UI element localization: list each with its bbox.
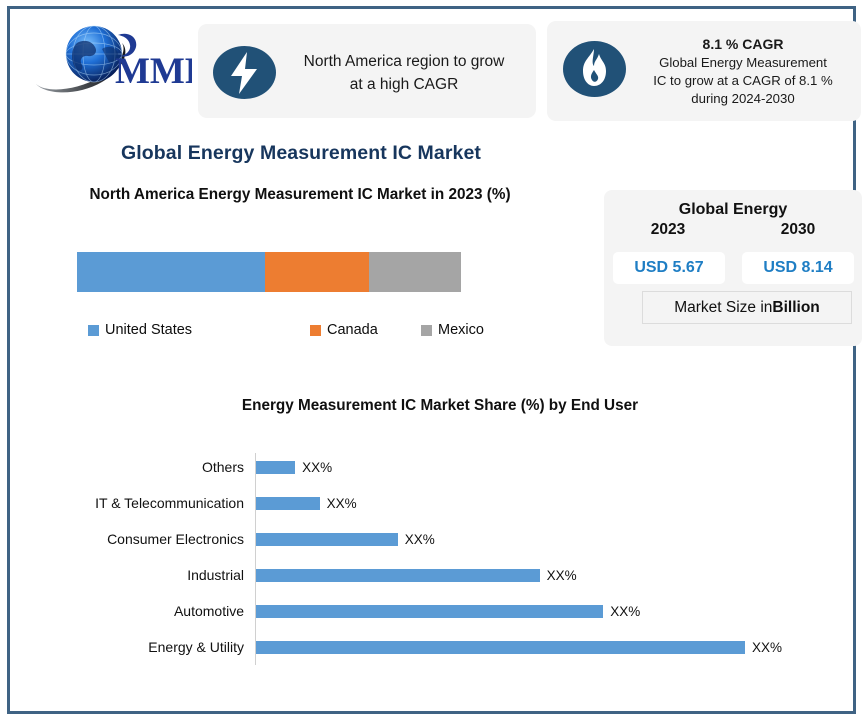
- highlight-line-2: at a high CAGR: [284, 73, 524, 96]
- cagr-line-1: Global Energy Measurement: [631, 54, 855, 72]
- market-size-year-2030: 2030: [748, 221, 848, 239]
- highlight-line-1: North America region to grow: [284, 50, 524, 73]
- globe-swoosh-icon: MMR: [32, 21, 192, 99]
- infographic-frame: MMR North America region to grow at a hi…: [7, 6, 856, 714]
- market-size-unit-prefix: Market Size in: [674, 299, 772, 317]
- mmr-logo: MMR: [32, 21, 192, 99]
- highlight-card: North America region to grow at a high C…: [198, 24, 536, 118]
- end-user-value-label: XX%: [752, 629, 782, 665]
- page-title: Global Energy Measurement IC Market: [10, 142, 592, 165]
- legend-label: Canada: [327, 322, 378, 338]
- svg-text:MMR: MMR: [115, 51, 192, 92]
- cagr-line-3: during 2024-2030: [631, 90, 855, 108]
- na-stacked-bar: [77, 252, 461, 292]
- end-user-value-label: XX%: [610, 593, 640, 629]
- end-user-category-label: IT & Telecommunication: [10, 485, 244, 521]
- end-user-bar-row: Consumer ElectronicsXX%: [10, 521, 863, 557]
- header: MMR North America region to grow at a hi…: [10, 9, 853, 122]
- market-size-year-2023: 2023: [618, 221, 718, 239]
- end-user-bar-row: Energy & UtilityXX%: [10, 629, 863, 665]
- end-user-bar: [256, 533, 398, 546]
- end-user-value-label: XX%: [405, 521, 435, 557]
- end-user-category-label: Automotive: [10, 593, 244, 629]
- end-user-bar: [256, 461, 295, 474]
- market-size-value-2023: USD 5.67: [613, 252, 725, 284]
- market-size-panel: Global Energy 2023 2030 USD 5.67 USD 8.1…: [604, 190, 862, 346]
- end-user-bar: [256, 497, 320, 510]
- legend-swatch-icon: [310, 325, 321, 336]
- end-user-value-label: XX%: [547, 557, 577, 593]
- end-user-category-label: Industrial: [10, 557, 244, 593]
- end-user-bar-row: AutomotiveXX%: [10, 593, 863, 629]
- end-user-value-label: XX%: [327, 485, 357, 521]
- na-chart-legend: United StatesCanadaMexico: [88, 322, 508, 342]
- cagr-card: 8.1 % CAGR Global Energy Measurement IC …: [547, 21, 861, 121]
- infographic-root: MMR North America region to grow at a hi…: [0, 0, 863, 721]
- end-user-category-label: Others: [10, 449, 244, 485]
- na-segment-canada: [265, 252, 369, 292]
- legend-item-united-states: United States: [88, 322, 192, 338]
- highlight-card-text: North America region to grow at a high C…: [284, 50, 524, 97]
- end-user-category-label: Consumer Electronics: [10, 521, 244, 557]
- end-user-value-label: XX%: [302, 449, 332, 485]
- end-user-bar: [256, 641, 745, 654]
- end-user-chart-title: Energy Measurement IC Market Share (%) b…: [170, 395, 710, 417]
- end-user-bar-row: IT & TelecommunicationXX%: [10, 485, 863, 521]
- market-size-value-2030: USD 8.14: [742, 252, 854, 284]
- legend-item-mexico: Mexico: [421, 322, 484, 338]
- end-user-bar-row: IndustrialXX%: [10, 557, 863, 593]
- na-segment-mexico: [369, 252, 461, 292]
- end-user-bar: [256, 569, 540, 582]
- legend-label: United States: [105, 322, 192, 338]
- end-user-category-label: Energy & Utility: [10, 629, 244, 665]
- lightning-bolt-icon: [213, 46, 276, 99]
- cagr-card-text: 8.1 % CAGR Global Energy Measurement IC …: [631, 35, 855, 108]
- market-size-unit-bold: Billion: [772, 299, 819, 317]
- end-user-bar-row: OthersXX%: [10, 449, 863, 485]
- flame-icon: [563, 41, 626, 97]
- cagr-line-2: IC to grow at a CAGR of 8.1 %: [631, 72, 855, 90]
- end-user-bar-chart: OthersXX%IT & TelecommunicationXX%Consum…: [10, 449, 863, 667]
- legend-label: Mexico: [438, 322, 484, 338]
- cagr-headline: 8.1 % CAGR: [631, 35, 855, 54]
- na-segment-united-states: [77, 252, 265, 292]
- na-chart-title: North America Energy Measurement IC Mark…: [65, 184, 535, 206]
- end-user-bar: [256, 605, 603, 618]
- legend-swatch-icon: [421, 325, 432, 336]
- market-size-heading: Global Energy: [604, 201, 862, 219]
- market-size-unit-label: Market Size in Billion: [642, 291, 852, 324]
- legend-swatch-icon: [88, 325, 99, 336]
- legend-item-canada: Canada: [310, 322, 378, 338]
